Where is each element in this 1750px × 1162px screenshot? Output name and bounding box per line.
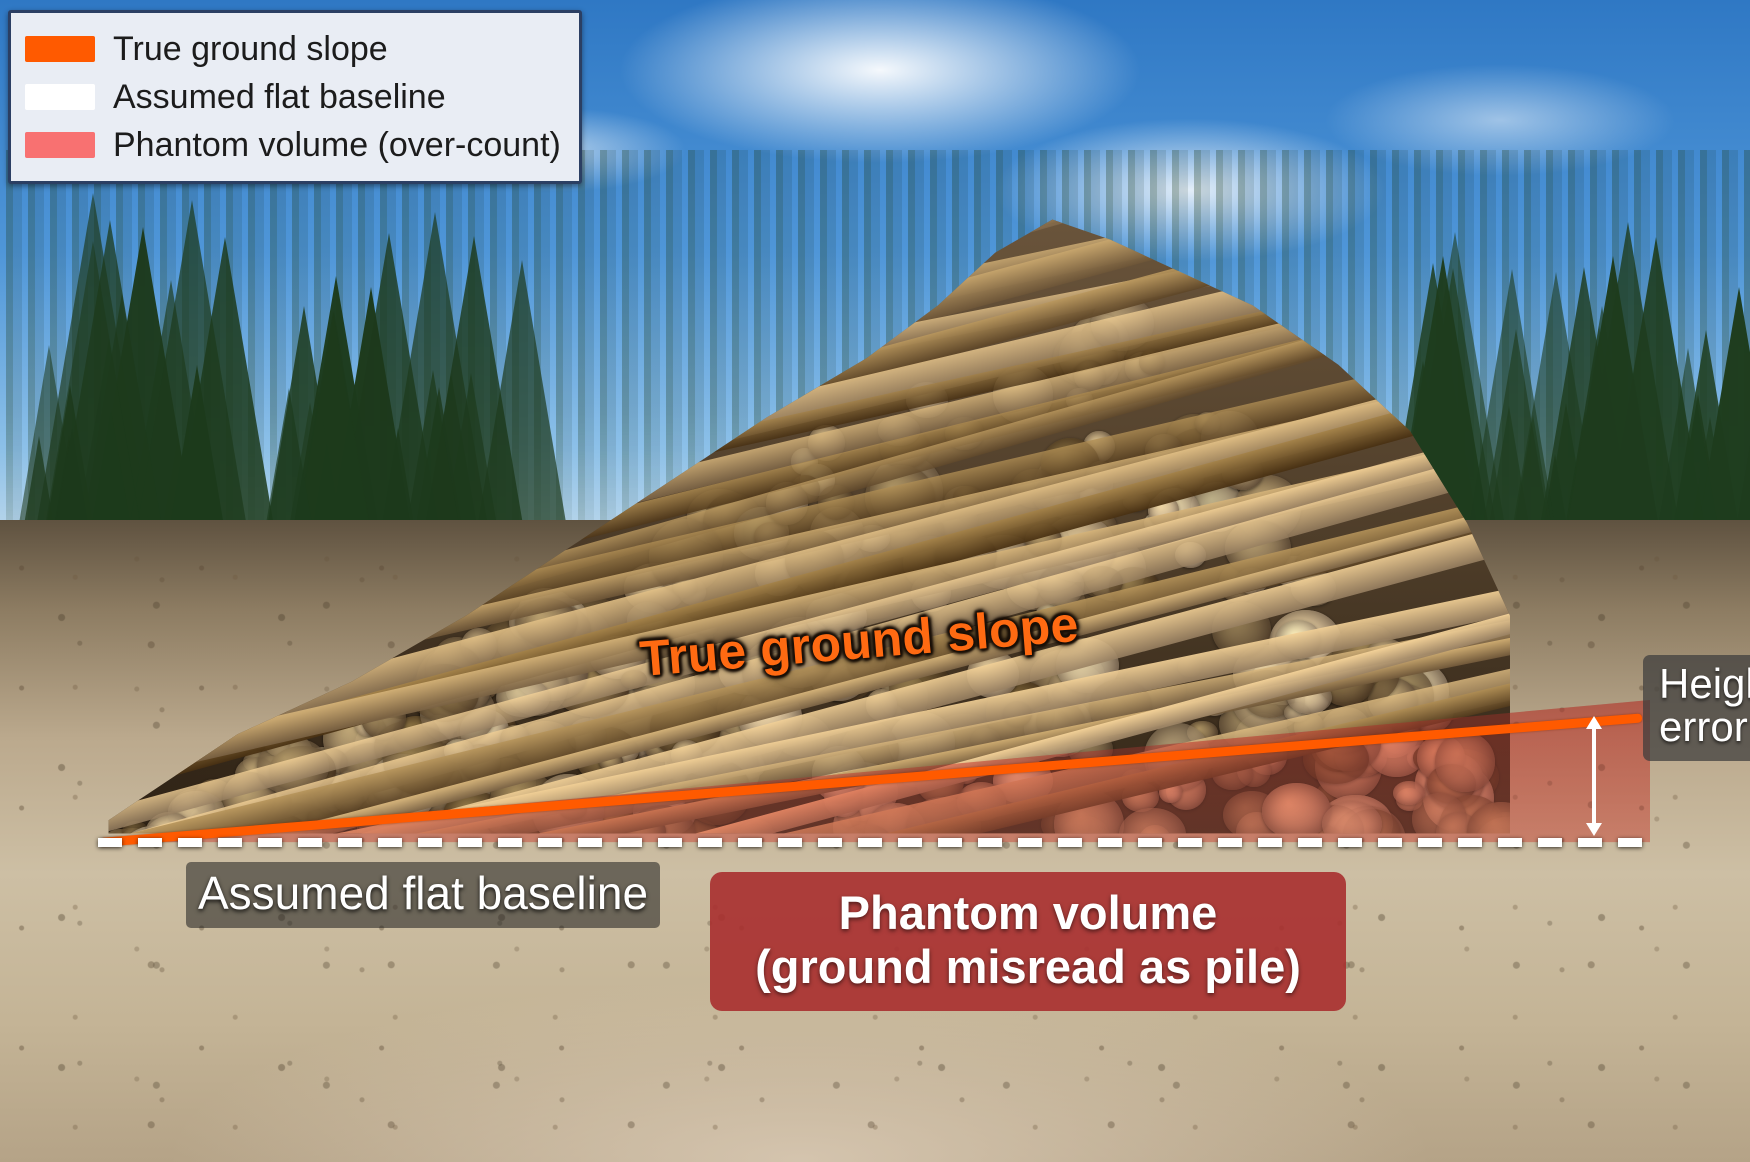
annotated-photo-figure: True ground slope Height error Assumed f… [0,0,1750,1162]
true-ground-slope-label: True ground slope [638,595,1081,688]
height-error-label: Height error [1643,655,1750,761]
arrow-head-down-icon [1586,823,1602,836]
legend-item: Phantom volume (over-count) [25,121,561,169]
legend-item: Assumed flat baseline [25,73,561,121]
legend: True ground slope Assumed flat baseline … [8,10,582,184]
assumed-flat-baseline-label: Assumed flat baseline [186,862,660,928]
legend-label: True ground slope [113,30,388,69]
legend-item: True ground slope [25,25,561,73]
legend-swatch-true-ground-slope [25,36,95,62]
legend-label: Phantom volume (over-count) [113,126,561,165]
legend-swatch-assumed-flat-baseline [25,84,95,110]
arrow-shaft [1592,726,1596,826]
legend-swatch-phantom-volume [25,132,95,158]
legend-label: Assumed flat baseline [113,78,446,117]
phantom-volume-callout: Phantom volume (ground misread as pile) [710,872,1346,1011]
assumed-flat-baseline-line [98,838,1658,847]
height-error-arrow [1586,716,1602,836]
